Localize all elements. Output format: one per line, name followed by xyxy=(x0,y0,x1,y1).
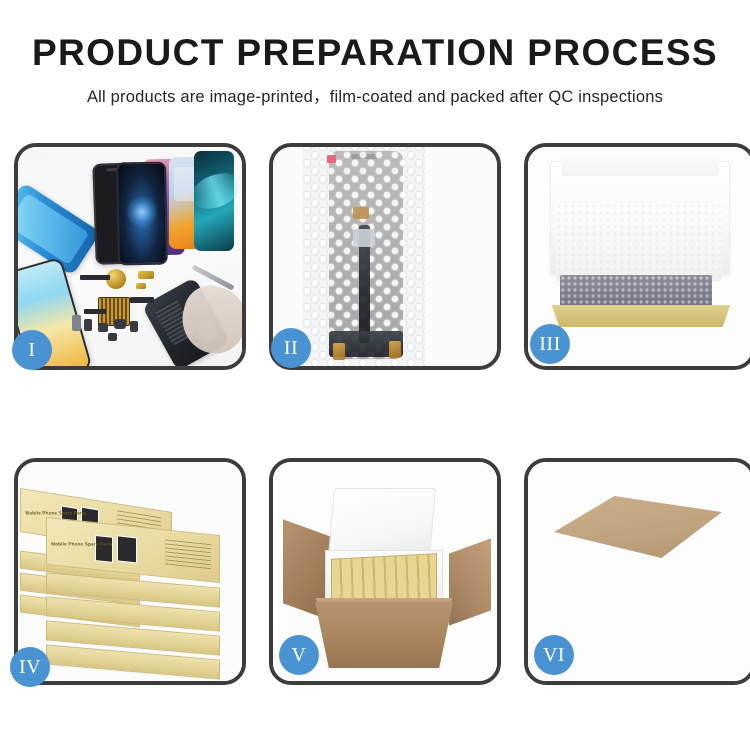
white-foam-sheet xyxy=(556,203,722,281)
step-badge-2: II xyxy=(271,328,311,368)
styrofoam-lid xyxy=(328,488,436,556)
step-panel-1[interactable]: I xyxy=(14,143,246,370)
header: PRODUCT PREPARATION PROCESS All products… xyxy=(0,0,750,107)
carton-left-face xyxy=(554,534,634,652)
flex-strip-b xyxy=(84,309,106,314)
gold-pad-right xyxy=(389,341,401,358)
yellow-box-front-edge xyxy=(546,305,736,327)
small-part-a xyxy=(84,319,92,331)
step-panel-5[interactable]: V xyxy=(269,458,501,685)
carton-flap-right xyxy=(449,538,491,625)
step-panel-2[interactable]: II xyxy=(269,143,501,370)
step-badge-6: VI xyxy=(534,635,574,675)
flex-strip-a xyxy=(80,275,110,280)
gold-pad-left xyxy=(333,343,345,360)
product-preparation-infographic: PRODUCT PREPARATION PROCESS All products… xyxy=(0,0,750,750)
carton-body xyxy=(315,602,453,668)
teal-wave-phone xyxy=(194,151,234,251)
small-part-b xyxy=(98,323,108,332)
box-label-2: Mobile Phone Spare Parts xyxy=(51,542,113,547)
step-badge-4: IV xyxy=(10,647,50,687)
step-1-image xyxy=(18,147,242,366)
step-badge-5: V xyxy=(279,635,319,675)
gold-chip-a xyxy=(138,271,154,279)
step-4-image: Mobile Phone Spare Parts Mobile Phone Sp… xyxy=(18,462,242,681)
flex-connector xyxy=(353,229,375,247)
step-panel-3[interactable]: III xyxy=(524,143,750,370)
flex-strip-c xyxy=(130,297,154,303)
jellyfish-wallpaper-phone xyxy=(116,162,168,266)
step-panel-6[interactable]: VI xyxy=(524,458,750,685)
red-label-sticker xyxy=(327,155,336,163)
small-part-d xyxy=(130,321,138,332)
small-part-c xyxy=(114,319,126,329)
bubble-wrap-bag xyxy=(303,147,425,366)
sim-tray xyxy=(72,315,81,331)
small-part-e xyxy=(108,333,117,341)
step-badge-3: III xyxy=(530,324,570,364)
gold-chip-b xyxy=(136,283,146,289)
step-badge-1: I xyxy=(12,330,52,370)
step-panel-4[interactable]: Mobile Phone Spare Parts Mobile Phone Sp… xyxy=(14,458,246,685)
page-title: PRODUCT PREPARATION PROCESS xyxy=(0,34,750,71)
step-2-image xyxy=(273,147,497,366)
steps-grid: I II xyxy=(14,143,737,685)
page-subtitle: All products are image-printed，film-coat… xyxy=(0,83,750,107)
box-label-1: Mobile Phone Spare Parts xyxy=(25,511,87,516)
gold-connector-top xyxy=(353,207,369,219)
